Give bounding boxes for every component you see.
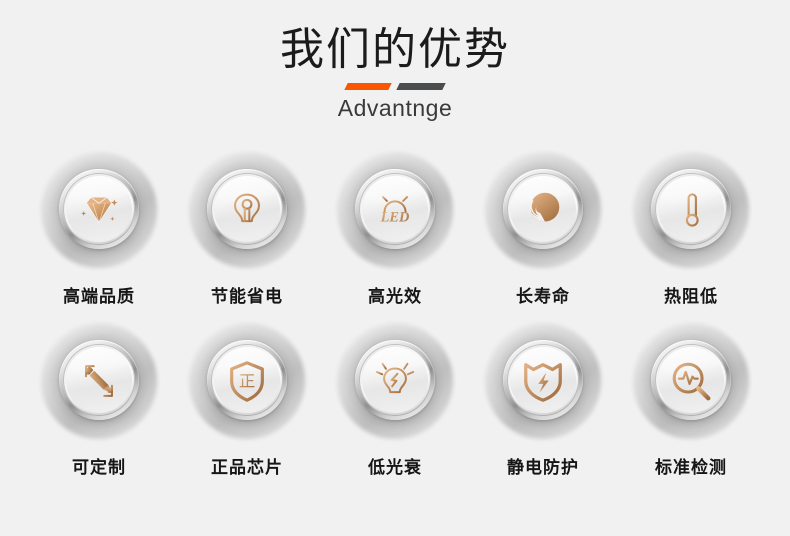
page-title: 我们的优势	[0, 26, 790, 74]
advantage-label: 高端品质	[63, 282, 135, 307]
advantage-item[interactable]: 可定制	[33, 321, 165, 478]
shield-bolt-icon	[520, 358, 566, 404]
advantage-item[interactable]: 标准检测	[625, 321, 757, 478]
advantage-item[interactable]: 热阻低	[625, 150, 757, 307]
diamond-icon	[76, 187, 122, 233]
glowing-bulb-icon	[372, 358, 418, 404]
magnifier-pulse-icon	[668, 358, 714, 404]
advantage-label: 静电防护	[507, 453, 579, 478]
advantage-item[interactable]: 静电防护	[477, 321, 609, 478]
advantage-badge[interactable]: 正	[187, 321, 307, 441]
advantage-item[interactable]: 低光衰	[329, 321, 461, 478]
advantage-badge[interactable]	[39, 150, 159, 270]
page-header: 我们的优势 Advantnge	[0, 0, 790, 122]
advantages-grid: 高端品质	[0, 150, 790, 478]
shield-zheng-icon: 正	[224, 358, 270, 404]
advantage-label: 节能省电	[211, 282, 283, 307]
page-subtitle: Advantnge	[0, 95, 790, 122]
advantage-badge[interactable]	[631, 321, 751, 441]
advantage-badge[interactable]	[631, 150, 751, 270]
advantage-label: 长寿命	[516, 282, 570, 307]
thermometer-low-icon	[668, 187, 714, 233]
advantage-label: 高光效	[368, 282, 422, 307]
advantage-item[interactable]: LED 高光效	[329, 150, 461, 307]
svg-text:LED: LED	[380, 209, 410, 225]
advantage-label: 可定制	[72, 453, 126, 478]
divider-bar-orange	[344, 83, 391, 90]
advantage-badge[interactable]: LED	[335, 150, 455, 270]
advantage-label: 标准检测	[655, 453, 727, 478]
advantages-row: 高端品质	[0, 150, 790, 307]
title-divider	[340, 80, 450, 92]
advantage-badge[interactable]	[39, 321, 159, 441]
led-sun-icon: LED	[372, 187, 418, 233]
svg-text:正: 正	[239, 372, 255, 390]
advantage-label: 低光衰	[368, 453, 422, 478]
lightbulb-outline-icon	[224, 187, 270, 233]
advantage-item[interactable]: 正 正品芯片	[181, 321, 313, 478]
advantages-row: 可定制 正	[0, 321, 790, 478]
advantage-label: 正品芯片	[211, 453, 283, 478]
advantage-label: 热阻低	[664, 282, 718, 307]
advantage-item[interactable]: 高端品质	[33, 150, 165, 307]
advantage-item[interactable]: 长寿命	[477, 150, 609, 307]
advantage-badge[interactable]	[483, 150, 603, 270]
advantage-badge[interactable]	[483, 321, 603, 441]
advantage-item[interactable]: 节能省电	[181, 150, 313, 307]
divider-bar-gray	[396, 83, 445, 90]
advantage-badge[interactable]	[335, 321, 455, 441]
advantage-badge[interactable]	[187, 150, 307, 270]
spiral-shell-icon	[520, 187, 566, 233]
pencil-ruler-icon	[76, 358, 122, 404]
